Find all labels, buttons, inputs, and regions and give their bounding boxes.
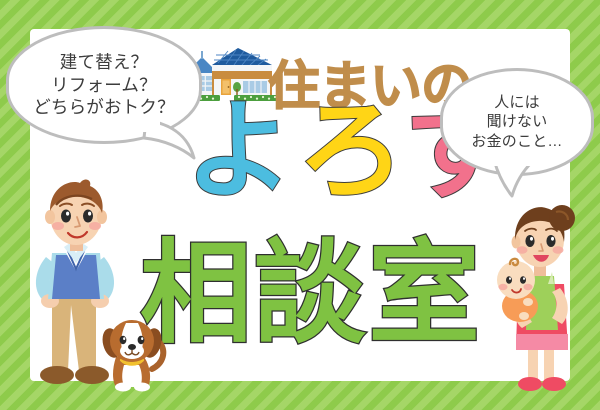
dog-character: [96, 313, 168, 393]
bubble-right-line-3: お金のこと…: [471, 132, 562, 151]
title-sub: 相談室: [140, 238, 482, 350]
woman-with-baby-character: [488, 198, 588, 398]
bubble-right-line-2: 聞けない: [487, 112, 548, 131]
bubble-left-line-3: どちらがおトク？: [33, 96, 175, 118]
bubble-left-tail: [142, 118, 198, 162]
banner-root: 住まいの よ ろ ず 相談室 建て替え？ リフォーム？ どちらがおトク？ 人には…: [0, 0, 600, 410]
bubble-left-line-1: 建て替え？: [60, 51, 149, 73]
bubble-right-tail: [488, 158, 536, 198]
title-char-ro: ろ: [297, 98, 405, 206]
title-char-yo: よ: [185, 98, 293, 206]
bubble-right-line-1: 人には: [494, 93, 540, 112]
bubble-left-line-2: リフォーム？: [51, 74, 157, 96]
